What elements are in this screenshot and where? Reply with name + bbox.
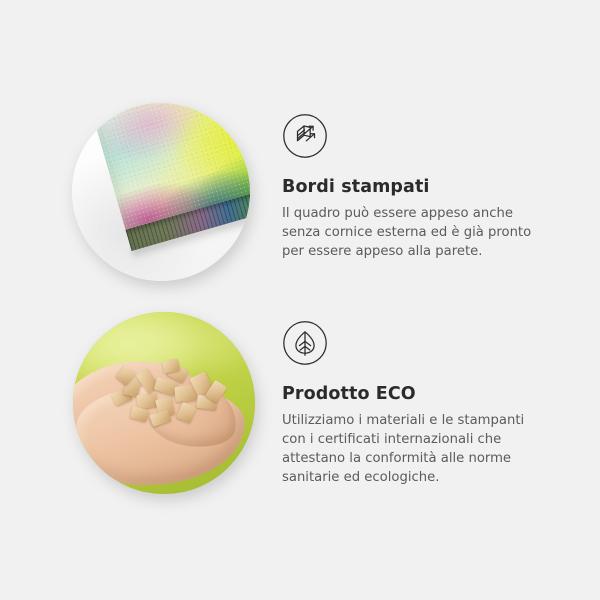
feature-description: Utilizziamo i materiali e le stampanti c… — [282, 411, 550, 488]
feature-block-printed-edges: Bordi stampati Il quadro può essere appe… — [0, 95, 600, 295]
printed-edges-icon — [282, 113, 328, 159]
canvas-corner-photo — [72, 103, 250, 281]
wood-chips-pile — [111, 360, 233, 432]
wood-chips-hands-photo — [73, 312, 255, 494]
feature-title: Bordi stampati — [282, 177, 560, 198]
product-features-panel: Bordi stampati Il quadro può essere appe… — [0, 0, 600, 600]
leaf-icon — [282, 320, 328, 366]
canvas-artwork — [90, 103, 250, 270]
feature-text-eco-product: Prodotto ECO Utilizziamo i materiali e l… — [282, 320, 560, 488]
canvas-photo-background — [72, 103, 250, 281]
feature-block-eco-product: Prodotto ECO Utilizziamo i materiali e l… — [0, 307, 600, 502]
feature-text-printed-edges: Bordi stampati Il quadro può essere appe… — [282, 113, 560, 261]
feature-title: Prodotto ECO — [282, 384, 560, 405]
feature-description: Il quadro può essere appeso anche senza … — [282, 204, 550, 261]
eco-photo-background — [73, 312, 255, 494]
